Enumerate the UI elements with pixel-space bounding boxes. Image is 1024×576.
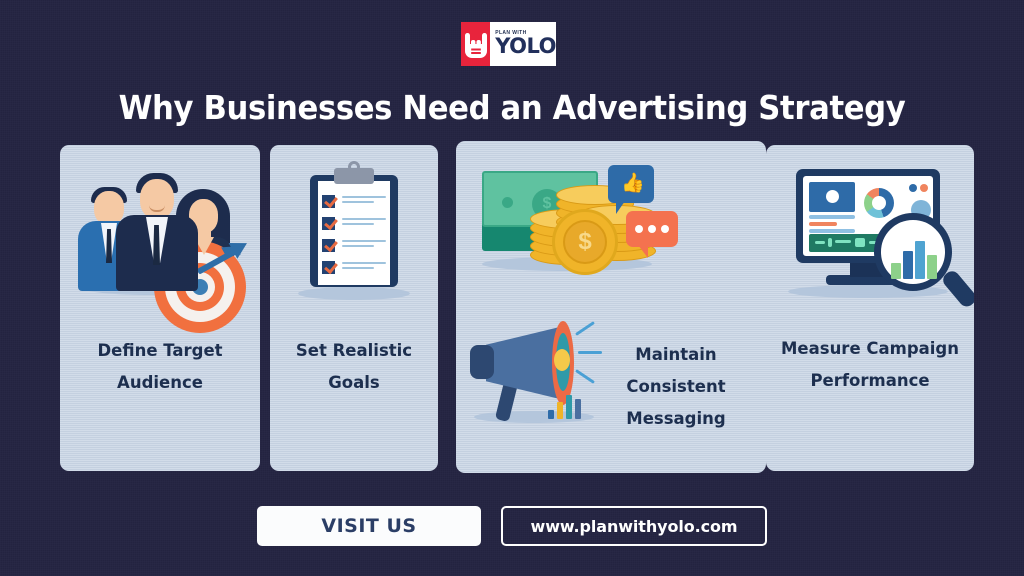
rock-hand-icon: [461, 22, 490, 66]
website-url-button[interactable]: www.planwithyolo.com: [501, 506, 767, 546]
megaphone-icon: [470, 311, 604, 431]
cards-row: Define Target Audience: [60, 141, 974, 473]
chat-bubble-icon: [626, 211, 678, 247]
card-label: Define Target Audience: [60, 335, 260, 399]
card-label: Measure Campaign Performance: [766, 333, 974, 397]
brand-logo[interactable]: PLAN WITH YOLO: [461, 22, 556, 66]
mini-bar-chart-icon: [546, 395, 586, 419]
card-define-target-audience[interactable]: Define Target Audience: [60, 145, 260, 471]
footer-actions: VISIT US www.planwithyolo.com: [0, 506, 1024, 548]
clipboard-checklist-icon: [302, 165, 406, 305]
money-coins-icon: $: [478, 165, 658, 275]
card-set-realistic-goals[interactable]: Set Realistic Goals: [270, 145, 438, 471]
card-maintain-consistent-messaging[interactable]: $: [456, 141, 766, 473]
logo-wordmark: YOLO: [495, 37, 556, 57]
magnified-bar-chart-icon: [891, 237, 939, 279]
card-measure-campaign-performance[interactable]: Measure Campaign Performance: [766, 145, 974, 471]
business-people-target-icon: [72, 163, 248, 313]
card-label: Set Realistic Goals: [270, 335, 438, 399]
person-center: [116, 167, 198, 289]
visit-us-button[interactable]: VISIT US: [257, 506, 481, 546]
thumbs-up-bubble-icon: 👍: [608, 165, 654, 203]
card-label: Maintain Consistent Messaging: [596, 339, 756, 436]
logo-text: PLAN WITH YOLO: [490, 22, 556, 66]
dollar-coin-icon: $: [552, 209, 618, 275]
monitor-dashboard-icon: [788, 167, 956, 307]
page-title: Why Businesses Need an Advertising Strat…: [36, 88, 988, 127]
